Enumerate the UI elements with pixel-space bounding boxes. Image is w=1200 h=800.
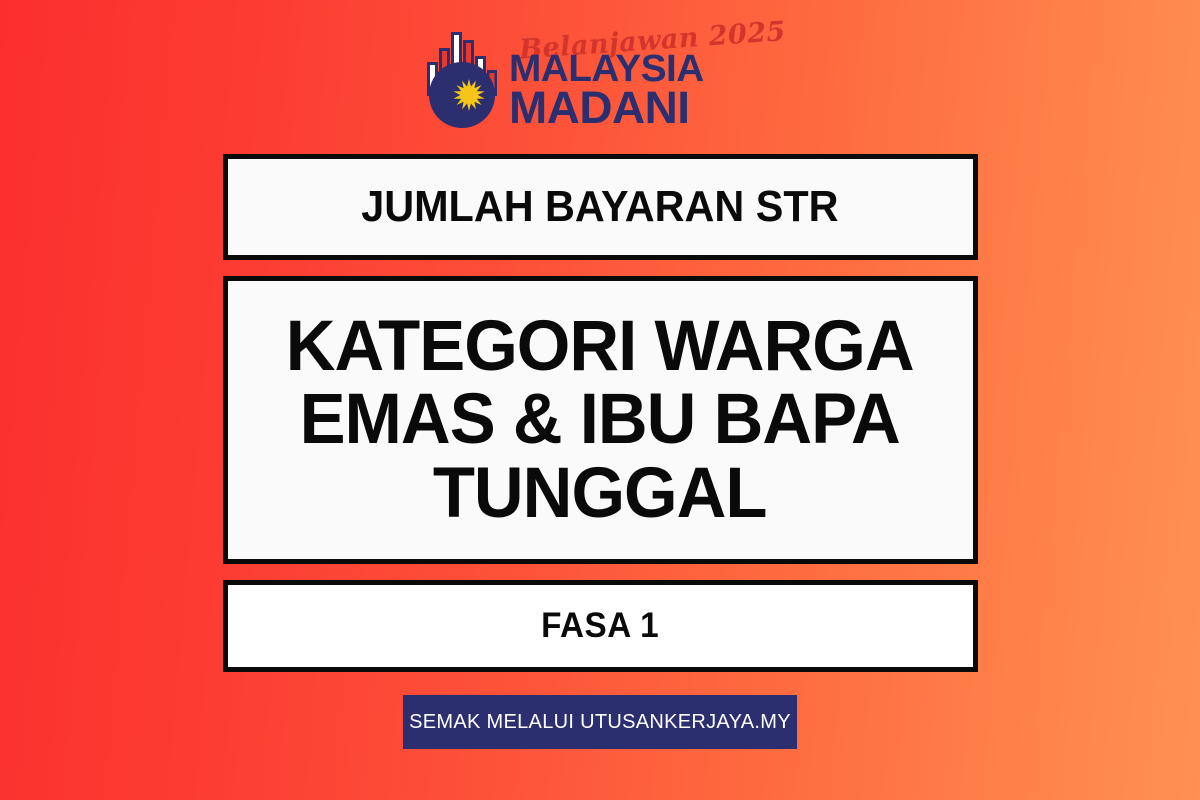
category-line-1: KATEGORI WARGA [286, 310, 914, 383]
logo-madani-text: MADANI [509, 87, 690, 128]
category-line-2: EMAS & IBU BAPA [286, 383, 914, 456]
phase-panel: FASA 1 [223, 580, 978, 672]
malaysia-madani-logo-icon [423, 26, 501, 130]
malaysia-madani-logo-block: Belanjawan 2025 MALAYSIA MADANI [423, 18, 776, 130]
category-panel-text: KATEGORI WARGA EMAS & IBU BAPA TUNGGAL [286, 310, 914, 529]
phase-panel-text: FASA 1 [541, 606, 659, 646]
category-panel: KATEGORI WARGA EMAS & IBU BAPA TUNGGAL [223, 276, 978, 564]
title-panel-text: JUMLAH BAYARAN STR [361, 182, 838, 232]
logo-wordmark: Belanjawan 2025 MALAYSIA MADANI [509, 24, 776, 130]
title-panel: JUMLAH BAYARAN STR [223, 154, 978, 260]
source-banner-text: SEMAK MELALUI UTUSANKERJAYA.MY [409, 711, 791, 734]
source-banner[interactable]: SEMAK MELALUI UTUSANKERJAYA.MY [403, 695, 797, 749]
poster-canvas: Belanjawan 2025 MALAYSIA MADANI JUMLAH B… [0, 0, 1200, 800]
category-line-3: TUNGGAL [286, 457, 914, 530]
